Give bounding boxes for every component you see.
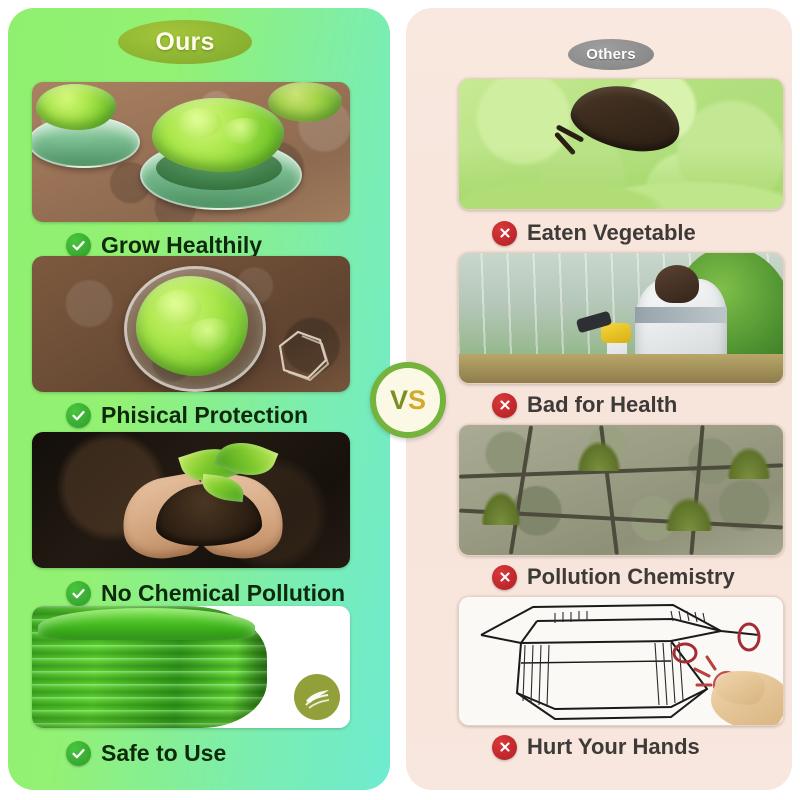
check-icon	[66, 233, 91, 258]
grass-tuft-2	[577, 441, 621, 471]
check-icon	[66, 741, 91, 766]
others-label-row-4: Hurt Your Hands	[492, 734, 700, 760]
cross-icon	[492, 565, 517, 590]
lettuce-secondary	[36, 84, 116, 130]
ours-pill-label: Ours	[155, 28, 214, 57]
grass-tuft-3	[665, 497, 713, 531]
versus-badge: VS	[370, 362, 446, 438]
cracked-ground-background	[459, 425, 783, 555]
cross-icon	[492, 393, 517, 418]
grass-tuft-1	[481, 491, 521, 525]
ours-pill-badge: Ours	[118, 20, 252, 64]
lettuce-highlight-c	[156, 290, 202, 326]
ours-image-2	[32, 256, 350, 392]
others-label-4: Hurt Your Hands	[527, 734, 700, 760]
others-label-2: Bad for Health	[527, 392, 677, 418]
ours-label-1: Grow Healthily	[101, 232, 262, 259]
suit-stripe	[635, 307, 727, 323]
shield-outline-icon	[268, 324, 342, 386]
others-label-row-1: Eaten Vegetable	[492, 220, 696, 246]
soil-row	[459, 354, 783, 383]
cross-icon	[492, 735, 517, 760]
others-panel: Eaten Vegetable Bad for Health	[406, 8, 792, 790]
ours-label-row-1: Grow Healthily	[66, 232, 262, 259]
others-label-row-2: Bad for Health	[492, 392, 677, 418]
check-icon	[66, 581, 91, 606]
others-image-3	[458, 424, 784, 556]
ours-label-row-3: No Chemical Pollution	[66, 580, 345, 607]
plastic-disc-top	[38, 608, 254, 640]
glove-upper	[601, 323, 631, 343]
grass-tuft-4	[727, 447, 771, 479]
check-icon	[66, 403, 91, 428]
others-pill-label: Others	[586, 46, 636, 63]
ours-image-3	[32, 432, 350, 568]
ours-label-row-4: Safe to Use	[66, 740, 226, 767]
others-image-1	[458, 78, 784, 210]
eco-leaf-badge-icon	[294, 674, 340, 720]
ours-label-3: No Chemical Pollution	[101, 580, 345, 607]
others-label-row-3: Pollution Chemistry	[492, 564, 735, 590]
ours-image-4	[32, 606, 350, 728]
versus-s-letter: S	[408, 387, 426, 414]
ours-label-row-2: Phisical Protection	[66, 402, 308, 429]
ours-label-4: Safe to Use	[101, 740, 226, 767]
lettuce-main	[152, 98, 284, 172]
worker-head	[655, 265, 699, 303]
others-image-2	[458, 252, 784, 384]
lettuce-highlight-d	[190, 318, 234, 352]
versus-v-letter: V	[390, 387, 408, 414]
lettuce-highlight-a	[178, 108, 222, 138]
foreground-leaves	[459, 149, 783, 209]
lettuce-highlight-b	[224, 118, 264, 144]
ours-label-2: Phisical Protection	[101, 402, 308, 429]
others-pill-badge: Others	[568, 39, 654, 70]
others-image-4	[458, 596, 784, 726]
ours-panel: Grow Healthily Phisical Protection	[8, 8, 390, 790]
comparison-infographic: Grow Healthily Phisical Protection	[0, 0, 800, 800]
others-label-1: Eaten Vegetable	[527, 220, 696, 246]
ours-image-1	[32, 82, 350, 222]
others-label-3: Pollution Chemistry	[527, 564, 735, 590]
cross-icon	[492, 221, 517, 246]
lettuce-background	[268, 82, 342, 122]
